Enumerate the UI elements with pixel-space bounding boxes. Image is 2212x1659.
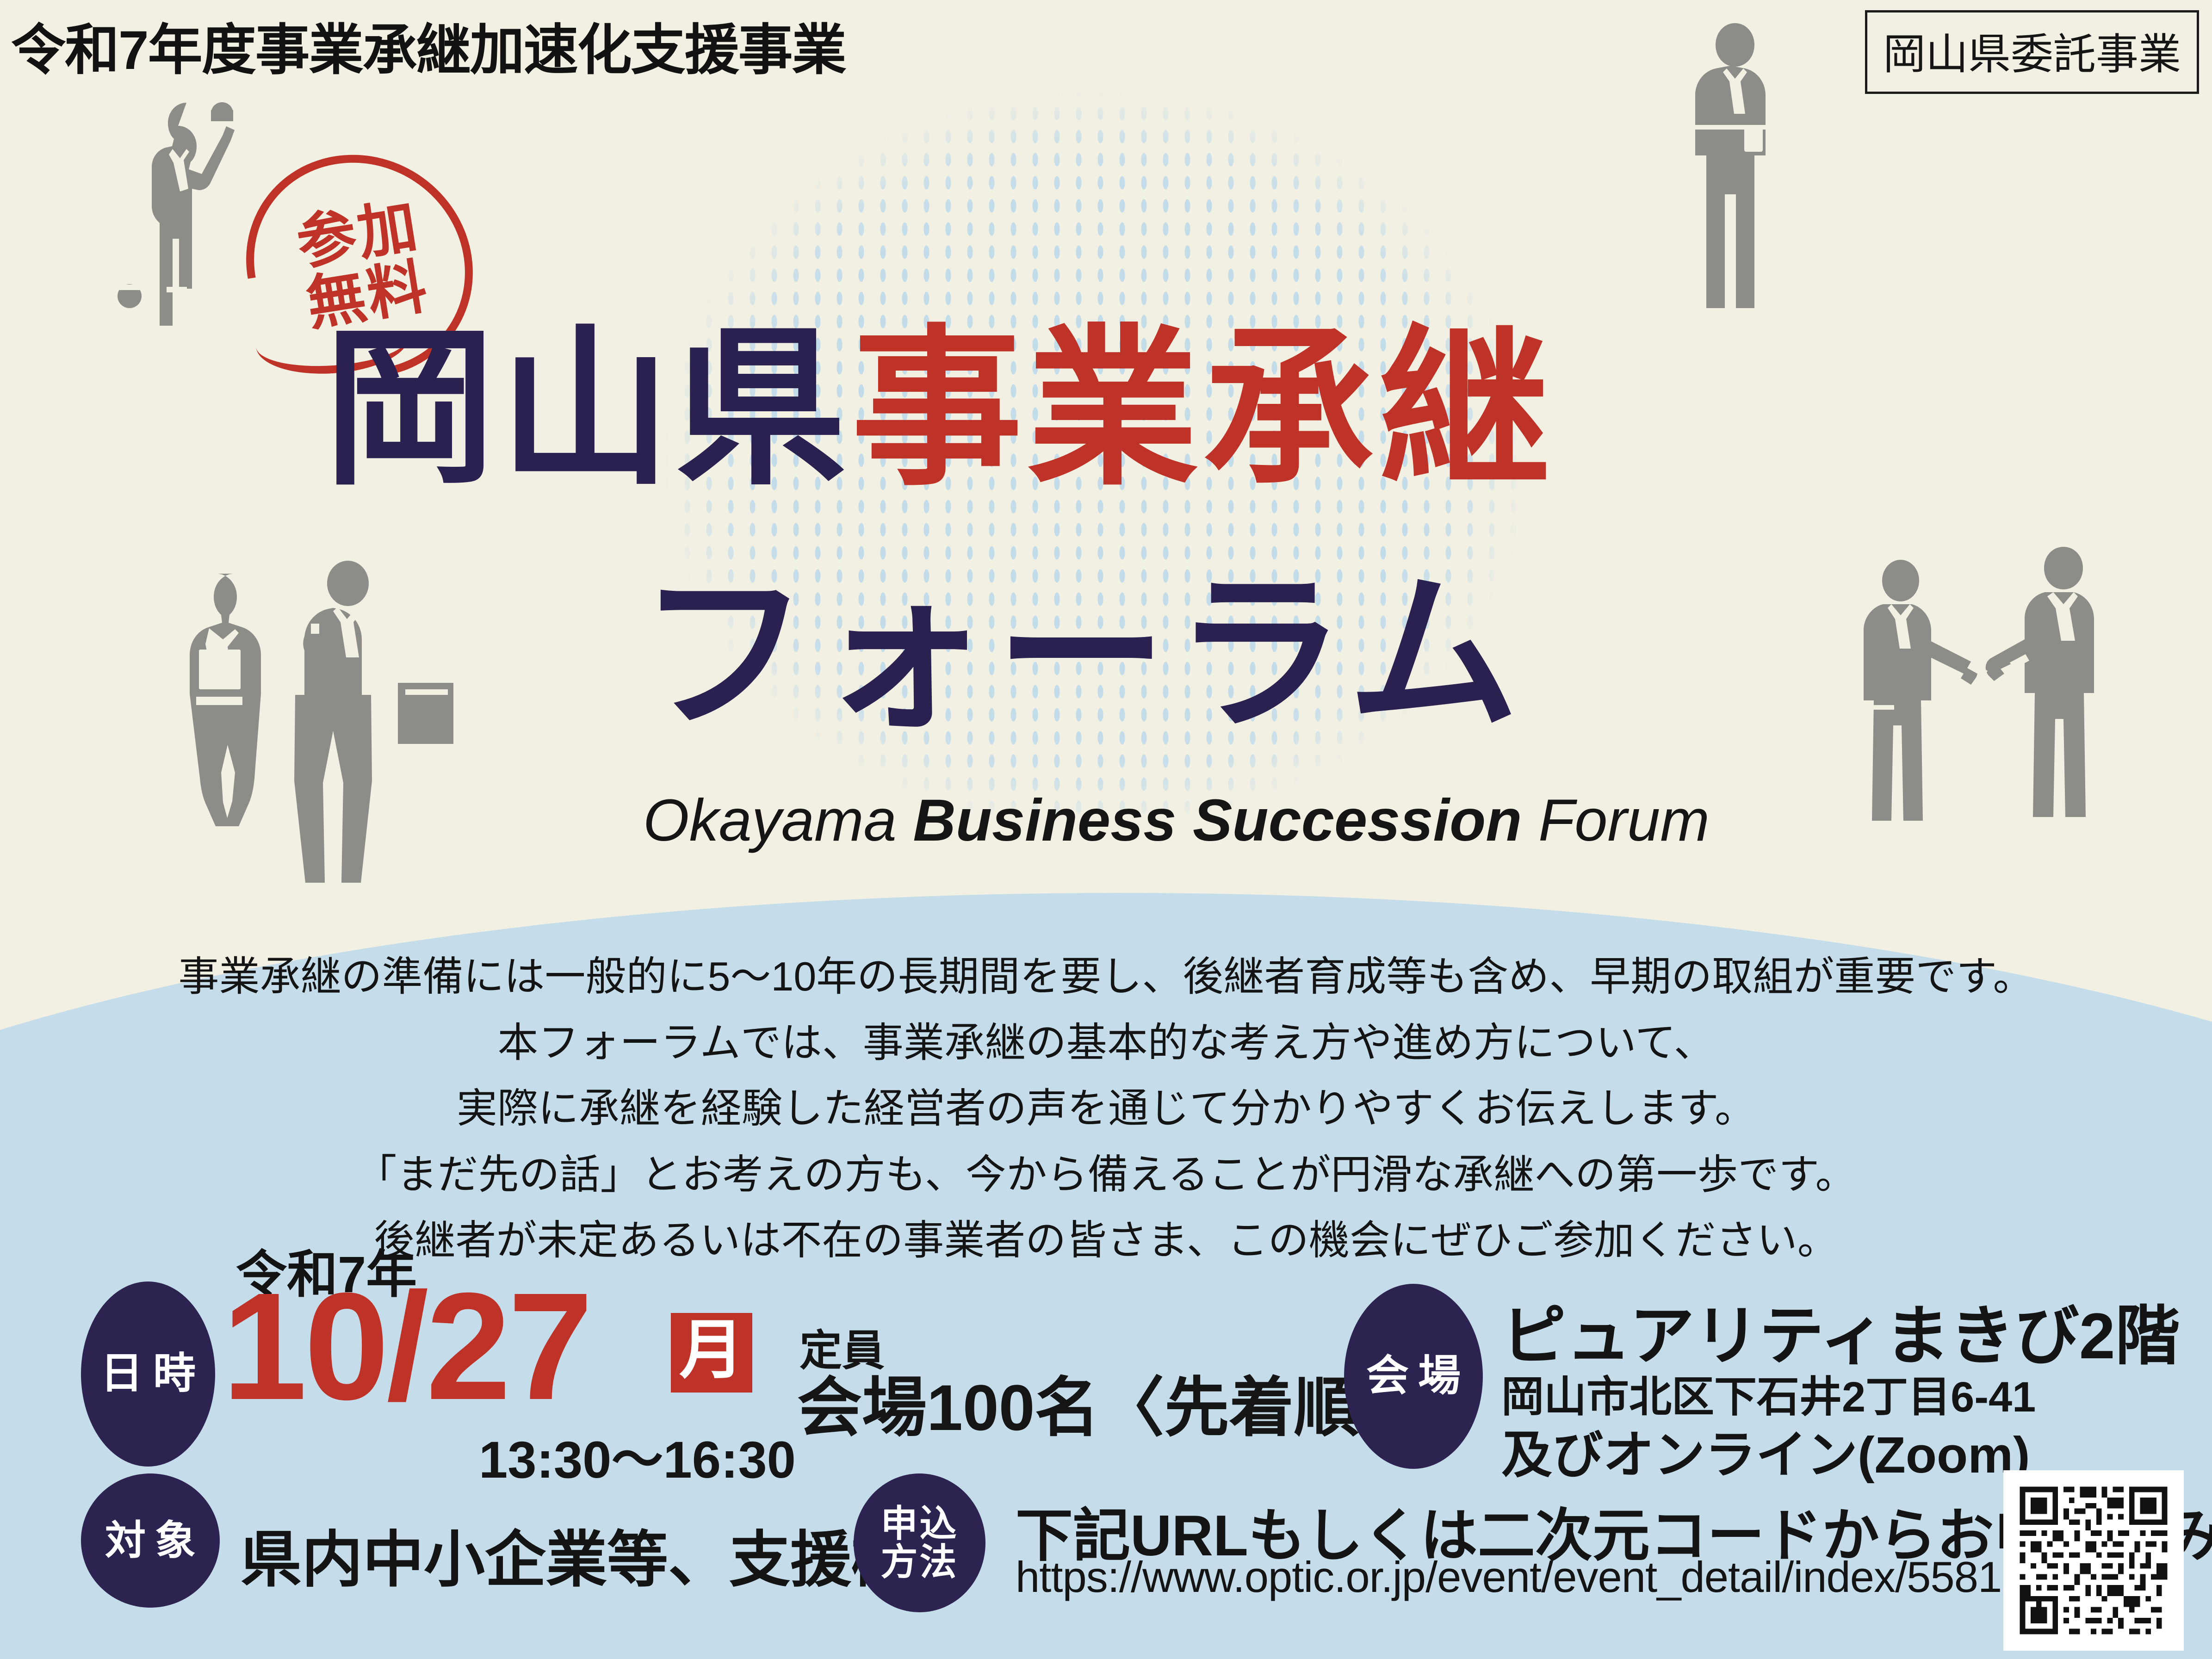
- main-title-navy: 岡山県: [324, 314, 851, 505]
- datetime-day-of-week: 月: [671, 1313, 752, 1393]
- capacity-value: 会場100名〈先着順〉: [797, 1356, 1424, 1449]
- subtitle-bold: Business Succession: [913, 787, 1522, 854]
- datetime-label-badge: 日時: [81, 1281, 215, 1467]
- description-line-1: 事業承継の準備には一般的に5〜10年の長期間を要し、後継者育成等も含め、早期の取…: [0, 944, 2212, 1010]
- venue-label-badge: 会場: [1344, 1284, 1483, 1469]
- qr-code-icon: [2003, 1470, 2184, 1651]
- entrust-badge: 岡山県委託事業: [1865, 10, 2199, 94]
- silhouette-man-standing: [1675, 9, 1795, 324]
- apply-url[interactable]: https://www.optic.or.jp/event/event_deta…: [1016, 1552, 2094, 1602]
- poster-canvas: 令和7年度事業承継加速化支援事業 岡山県委託事業: [0, 0, 2212, 1659]
- silhouette-handshake-pair: [1832, 537, 2156, 860]
- qr-code[interactable]: [2003, 1470, 2184, 1651]
- datetime-time-range: 13:30〜16:30: [479, 1418, 796, 1493]
- apply-label-badge: 申込 方法: [854, 1473, 985, 1612]
- description-line-4: 「まだ先の話」とお考えの方も、今から備えることが円滑な承継への第一歩です。: [0, 1142, 2212, 1208]
- main-title-line1: 岡山県事業承継: [324, 324, 1555, 495]
- english-subtitle: Okayama Business Succession Forum: [643, 786, 1710, 854]
- program-title: 令和7年度事業承継加速化支援事業: [11, 6, 846, 85]
- target-label-badge: 対象: [81, 1473, 220, 1608]
- description-paragraph: 事業承継の準備には一般的に5〜10年の長期間を要し、後継者育成等も含め、早期の取…: [0, 944, 2212, 1274]
- description-line-3: 実際に承継を経験した経営者の声を通じて分かりやすくお伝えします。: [0, 1076, 2212, 1142]
- description-line-2: 本フォーラムでは、事業承継の基本的な考え方や進め方について、: [0, 1010, 2212, 1076]
- apply-label-line2: 方法: [881, 1543, 959, 1581]
- datetime-date: 10/27: [222, 1270, 590, 1423]
- subtitle-suffix: Forum: [1522, 787, 1709, 854]
- main-title-line2: フォーラム: [638, 569, 1526, 740]
- venue-online-option: 及びオンライン(Zoom): [1501, 1413, 2030, 1487]
- apply-label-line1: 申込: [881, 1504, 959, 1543]
- main-title-red: 事業承継: [851, 314, 1555, 505]
- subtitle-prefix: Okayama: [643, 787, 913, 854]
- silhouette-woman-and-man-with-briefcase: [148, 546, 453, 925]
